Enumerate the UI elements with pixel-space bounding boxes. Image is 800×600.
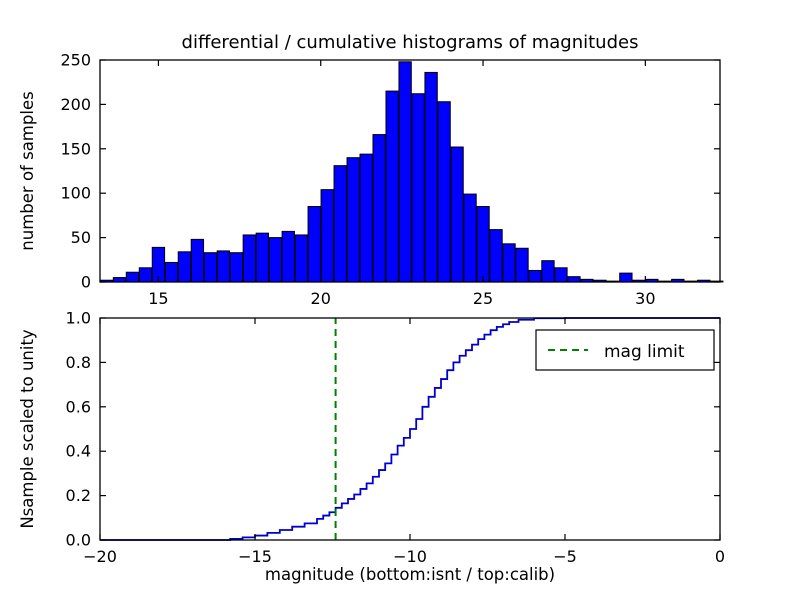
histogram-bar bbox=[347, 158, 359, 282]
tick-label: 0 bbox=[715, 547, 725, 566]
tick-label: 100 bbox=[60, 184, 91, 203]
histogram-bar bbox=[620, 273, 632, 282]
tick-label: 250 bbox=[60, 51, 91, 70]
histogram-bar bbox=[568, 277, 580, 282]
histogram-bar bbox=[191, 239, 203, 282]
tick-label: 0.6 bbox=[66, 397, 91, 416]
histogram-bar bbox=[516, 248, 528, 282]
histogram-bar bbox=[334, 166, 346, 282]
top-y-axis-label: number of samples bbox=[18, 91, 37, 250]
legend[interactable]: mag limit bbox=[536, 330, 714, 370]
tick-label: 15 bbox=[148, 289, 168, 308]
histogram-bar bbox=[243, 235, 255, 282]
bottom-panel: 0.00.20.40.60.81.0 −20−15−10−50 Nsample … bbox=[18, 309, 725, 585]
histogram-bar bbox=[386, 91, 398, 282]
tick-label: 25 bbox=[473, 289, 493, 308]
histogram-bar bbox=[503, 244, 515, 282]
histogram-bar bbox=[490, 230, 502, 282]
figure-canvas: differential / cumulative histograms of … bbox=[0, 0, 800, 600]
histogram-bar bbox=[230, 253, 242, 282]
tick-label: −10 bbox=[393, 547, 427, 566]
legend-label-mag-limit: mag limit bbox=[604, 342, 685, 362]
histogram-bar bbox=[139, 268, 151, 282]
bottom-y-axis-label: Nsample scaled to unity bbox=[18, 329, 37, 529]
tick-label: 50 bbox=[71, 228, 91, 247]
histogram-bar bbox=[529, 270, 541, 282]
matplotlib-figure: differential / cumulative histograms of … bbox=[0, 0, 800, 600]
tick-label: −15 bbox=[238, 547, 272, 566]
histogram-bar bbox=[256, 233, 268, 282]
histogram-bar bbox=[165, 262, 177, 282]
histogram-bar bbox=[477, 207, 489, 282]
tick-label: 0.4 bbox=[66, 442, 91, 461]
histogram-bar bbox=[425, 72, 437, 282]
histogram-bar bbox=[321, 190, 333, 282]
tick-label: 1.0 bbox=[66, 309, 91, 328]
histogram-bar bbox=[295, 235, 307, 282]
tick-label: 0.2 bbox=[66, 486, 91, 505]
histogram-bar bbox=[438, 102, 450, 282]
histogram-bar bbox=[464, 194, 476, 282]
histogram-bar bbox=[113, 278, 125, 282]
histogram-bar bbox=[178, 252, 190, 282]
histogram-bar bbox=[217, 251, 229, 282]
histogram-bar bbox=[360, 154, 372, 282]
histogram-bar bbox=[126, 272, 138, 282]
histogram-bar bbox=[451, 147, 463, 282]
bottom-x-axis-label: magnitude (bottom:isnt / top:calib) bbox=[265, 565, 555, 584]
histogram-bar bbox=[555, 268, 567, 282]
histogram-bar bbox=[373, 135, 385, 282]
tick-label: 0 bbox=[81, 273, 91, 292]
tick-label: −5 bbox=[553, 547, 577, 566]
tick-label: 20 bbox=[311, 289, 331, 308]
tick-label: 0.8 bbox=[66, 353, 91, 372]
histogram-bar bbox=[542, 261, 554, 282]
page-title: differential / cumulative histograms of … bbox=[182, 32, 639, 53]
tick-label: 200 bbox=[60, 95, 91, 114]
histogram-bar bbox=[308, 207, 320, 282]
tick-label: 150 bbox=[60, 139, 91, 158]
tick-label: −20 bbox=[83, 547, 117, 566]
tick-label: 30 bbox=[635, 289, 655, 308]
histogram-bar bbox=[204, 253, 216, 282]
histogram-bar bbox=[269, 238, 281, 282]
top-panel: differential / cumulative histograms of … bbox=[18, 32, 723, 308]
histogram-bar bbox=[399, 62, 411, 282]
histogram-bar bbox=[412, 94, 424, 282]
histogram-bar bbox=[282, 231, 294, 282]
